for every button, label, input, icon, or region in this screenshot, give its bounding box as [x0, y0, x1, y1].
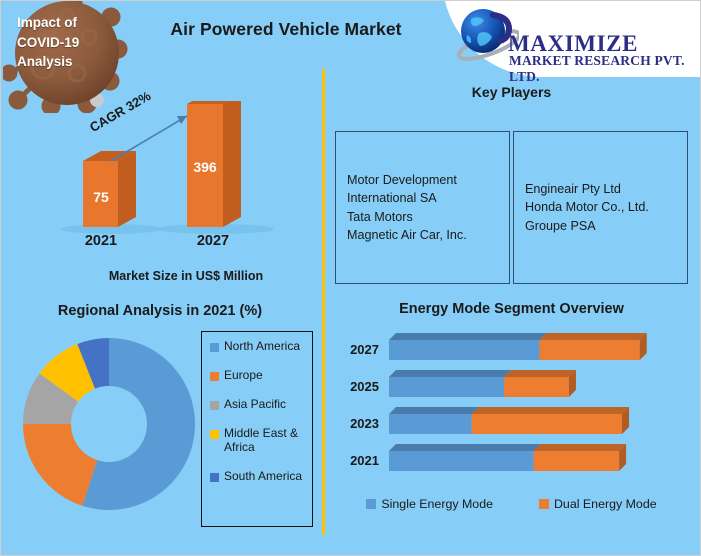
energy-mode-legend-label: Dual Energy Mode: [554, 497, 657, 511]
bar-segment-dual-2023: [472, 407, 629, 434]
bar-segment-single-2021: [389, 444, 541, 471]
legend-swatch-icon: [210, 401, 219, 410]
legend-swatch-icon: [210, 473, 219, 482]
energy-mode-legend-label: Single Energy Mode: [381, 497, 493, 511]
bar-segment-single-2027: [389, 333, 546, 360]
covid-badge-line-3: Analysis: [17, 52, 101, 72]
donut-legend-label: Asia Pacific: [224, 398, 286, 412]
covid-badge-text: Impact of COVID-19 Analysis: [17, 13, 101, 72]
energy-mode-year-label-2023: 2023: [335, 416, 379, 431]
donut-legend-item[interactable]: South America: [210, 470, 306, 484]
column-chart-axis-label: Market Size in US$ Million: [61, 269, 311, 283]
key-player-item-2: Tata Motors: [347, 208, 467, 226]
donut-legend-item[interactable]: Middle East & Africa: [210, 427, 306, 455]
donut-legend-label: South America: [224, 470, 302, 484]
energy-mode-chart-title: Energy Mode Segment Overview: [335, 301, 688, 317]
donut-chart-legend: North AmericaEuropeAsia PacificMiddle Ea…: [201, 331, 313, 527]
bar-segment-single-2025: [389, 370, 511, 397]
donut-legend-label: Middle East & Africa: [224, 427, 306, 455]
key-players-list-2: Engineair Pty LtdHonda Motor Co., Ltd.Gr…: [514, 180, 649, 235]
key-players-box-1: Motor DevelopmentInternational SATata Mo…: [335, 131, 510, 284]
donut-legend-label: Europe: [224, 369, 263, 383]
infographic-page: Impact of COVID-19 Analysis Air Powered …: [0, 0, 701, 556]
logo-wordmark-secondary: MARKET RESEARCH PVT. LTD.: [509, 53, 701, 85]
covid-impact-badge: Impact of COVID-19 Analysis: [3, 1, 133, 113]
donut-chart-title: Regional Analysis in 2021 (%): [15, 303, 305, 319]
covid-badge-line-2: COVID-19: [17, 33, 101, 53]
covid-badge-line-1: Impact of: [17, 13, 101, 33]
energy-mode-legend-item[interactable]: Dual Energy Mode: [539, 497, 657, 511]
donut-legend-item[interactable]: Europe: [210, 369, 306, 383]
column-value-2021: 75: [75, 189, 127, 205]
key-player-item-3: Magnetic Air Car, Inc.: [347, 226, 467, 244]
column-category-2027: 2027: [183, 233, 243, 249]
bar-segment-dual-2021: [534, 444, 627, 471]
energy-mode-year-label-2025: 2025: [335, 379, 379, 394]
key-players-title: Key Players: [335, 84, 688, 100]
key-player-item-2: Groupe PSA: [525, 217, 649, 235]
key-players-box-2: Engineair Pty LtdHonda Motor Co., Ltd.Gr…: [513, 131, 688, 284]
key-player-item-0: Engineair Pty Ltd: [525, 180, 649, 198]
donut-legend-label: North America: [224, 340, 300, 354]
regional-analysis-donut-chart: [13, 328, 205, 520]
key-player-item-1: Honda Motor Co., Ltd.: [525, 198, 649, 216]
column-category-2021: 2021: [71, 233, 131, 249]
donut-slice-europe: [23, 424, 97, 506]
energy-mode-legend-item[interactable]: Single Energy Mode: [366, 497, 493, 511]
energy-mode-legend: Single Energy ModeDual Energy Mode: [335, 497, 688, 511]
energy-mode-stacked-bar-chart: 2027202520232021: [335, 326, 695, 501]
column-value-2027: 396: [179, 159, 231, 175]
legend-swatch-icon: [539, 499, 549, 509]
bar-segment-dual-2027: [539, 333, 646, 360]
legend-swatch-icon: [366, 499, 376, 509]
bar-segment-single-2023: [389, 407, 479, 434]
key-player-item-1: International SA: [347, 189, 467, 207]
vertical-divider: [322, 69, 325, 535]
company-logo: MAXIMIZE MARKET RESEARCH PVT. LTD.: [453, 5, 701, 73]
legend-swatch-icon: [210, 372, 219, 381]
page-title: Air Powered Vehicle Market: [141, 19, 431, 40]
key-players-list-1: Motor DevelopmentInternational SATata Mo…: [336, 171, 467, 244]
legend-swatch-icon: [210, 343, 219, 352]
energy-mode-year-label-2027: 2027: [335, 342, 379, 357]
key-player-item-0: Motor Development: [347, 171, 467, 189]
donut-legend-item[interactable]: Asia Pacific: [210, 398, 306, 412]
energy-mode-year-label-2021: 2021: [335, 453, 379, 468]
legend-swatch-icon: [210, 430, 219, 439]
bar-segment-dual-2025: [504, 370, 576, 397]
donut-legend-item[interactable]: North America: [210, 340, 306, 354]
